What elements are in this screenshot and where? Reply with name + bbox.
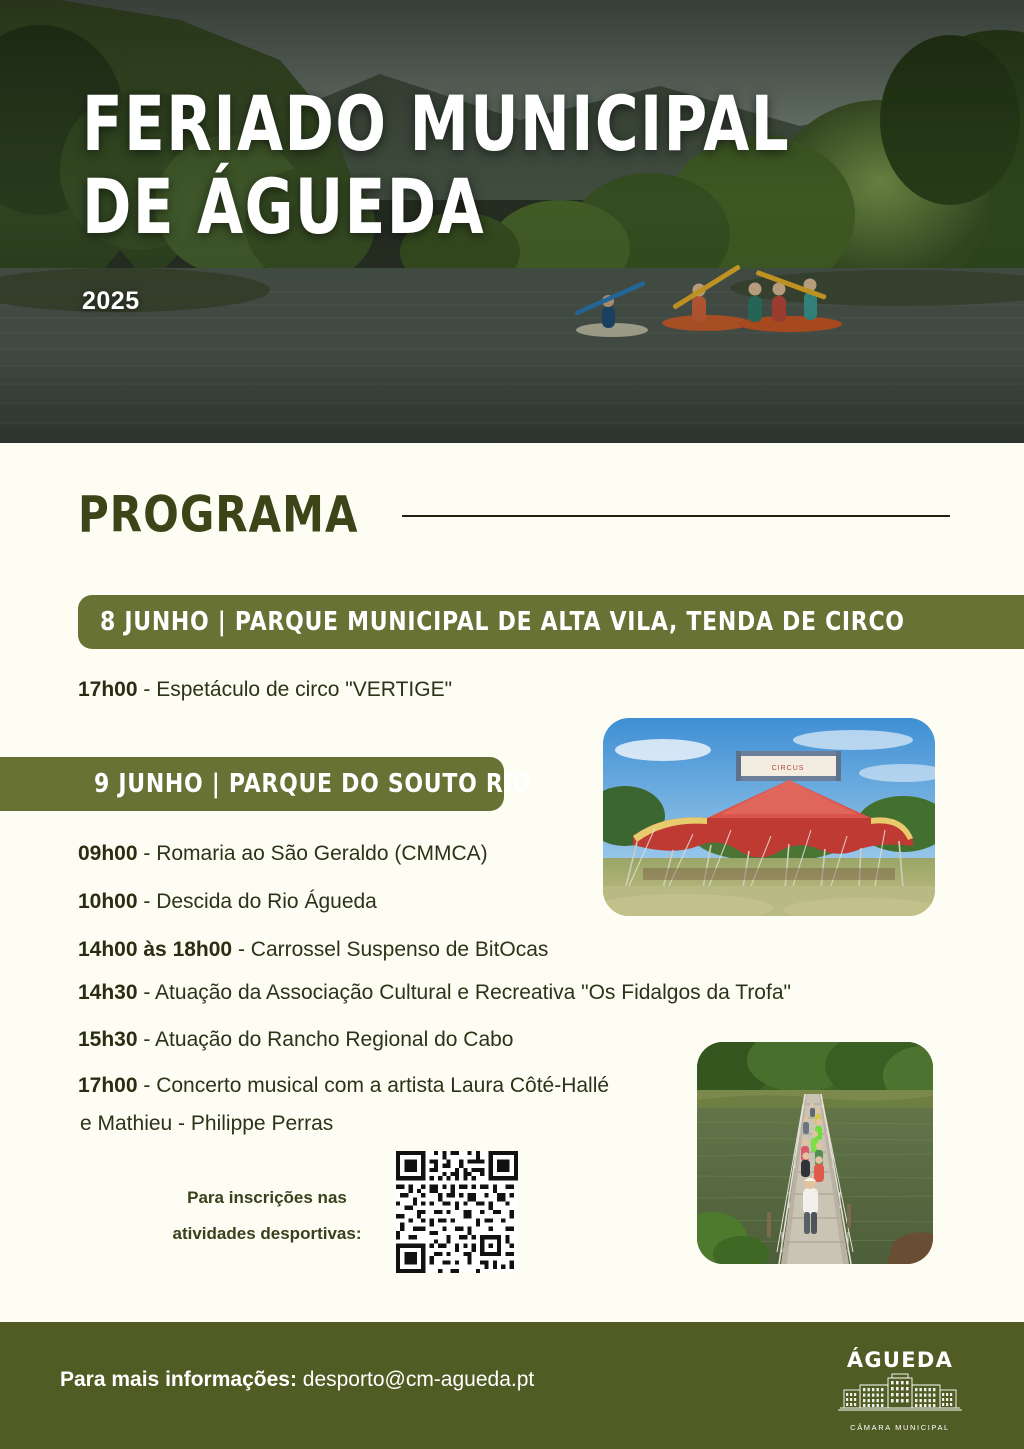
schedule-item-day2-3: 14h30 - Atuação da Associação Cultural e… xyxy=(78,979,791,1007)
schedule-time: 14h30 xyxy=(78,981,138,1004)
schedule-desc: - Atuação da Associação Cultural e Recre… xyxy=(138,981,791,1004)
schedule-desc: - Atuação do Rancho Regional do Cabo xyxy=(138,1028,514,1051)
day-banner-8-junho-label: 8 JUNHO | PARQUE MUNICIPAL DE ALTA VILA,… xyxy=(100,608,905,637)
qr-code[interactable] xyxy=(396,1151,518,1273)
footer-contact-label: Para mais informações: xyxy=(60,1368,297,1391)
poster-year: 2025 xyxy=(82,287,820,316)
registration-text: Para inscrições nas atividades desportiv… xyxy=(152,1180,382,1251)
schedule-item-day2-2: 14h00 às 18h00 - Carrossel Suspenso de B… xyxy=(78,936,548,964)
schedule-item-day2-1: 10h00 - Descida do Rio Águeda xyxy=(78,888,377,916)
hero-header: FERIADO MUNICIPAL DE ÁGUEDA 2025 xyxy=(0,0,1024,443)
schedule-desc: - Espetáculo de circo "VERTIGE" xyxy=(138,678,452,701)
schedule-desc: - Romaria ao São Geraldo (CMMCA) xyxy=(138,842,488,865)
day-banner-8-junho: 8 JUNHO | PARQUE MUNICIPAL DE ALTA VILA,… xyxy=(78,595,1024,649)
schedule-item-day2-4: 15h30 - Atuação do Rancho Regional do Ca… xyxy=(78,1026,513,1054)
poster-title: FERIADO MUNICIPAL DE ÁGUEDA xyxy=(82,88,790,243)
footer-bar: Para mais informações: desporto@cm-agued… xyxy=(0,1322,1024,1449)
schedule-item-day2-5-continuation: e Mathieu - Philippe Perras xyxy=(80,1110,333,1138)
schedule-time: 14h00 às 18h00 xyxy=(78,938,232,961)
registration-line2: atividades desportivas: xyxy=(152,1216,382,1252)
programa-heading: PROGRAMA xyxy=(78,485,358,543)
schedule-desc: e Mathieu - Philippe Perras xyxy=(80,1112,333,1135)
poster-title-line2: DE ÁGUEDA xyxy=(82,170,790,243)
hero-text-block: FERIADO MUNICIPAL DE ÁGUEDA 2025 xyxy=(82,88,820,316)
agueda-logo-wordmark: ÁGUEDA xyxy=(834,1349,966,1371)
poster-title-line1: FERIADO MUNICIPAL xyxy=(82,79,790,168)
schedule-time: 10h00 xyxy=(78,890,138,913)
day-banner-9-junho-label: 9 JUNHO | PARQUE DO SOUTO RIO xyxy=(94,770,532,799)
schedule-desc: - Descida do Rio Águeda xyxy=(138,890,377,913)
footbridge-photo xyxy=(697,1042,933,1264)
poster: FERIADO MUNICIPAL DE ÁGUEDA 2025 PROGRAM… xyxy=(0,0,1024,1449)
circus-tent-photo: CIRCUS xyxy=(603,718,935,916)
footer-contact: Para mais informações: desporto@cm-agued… xyxy=(60,1368,534,1392)
schedule-time: 15h30 xyxy=(78,1028,138,1051)
registration-line1: Para inscrições nas xyxy=(152,1180,382,1216)
programa-heading-row: PROGRAMA xyxy=(78,486,950,542)
schedule-item-day2-5: 17h00 - Concerto musical com a artista L… xyxy=(78,1072,609,1100)
schedule-desc: - Concerto musical com a artista Laura C… xyxy=(138,1074,610,1097)
schedule-time: 17h00 xyxy=(78,678,138,701)
schedule-time: 09h00 xyxy=(78,842,138,865)
schedule-desc: - Carrossel Suspenso de BitOcas xyxy=(232,938,548,961)
schedule-item-day2-0: 09h00 - Romaria ao São Geraldo (CMMCA) xyxy=(78,840,488,868)
day-banner-9-junho: 9 JUNHO | PARQUE DO SOUTO RIO xyxy=(0,757,504,811)
schedule-item-day1-0: 17h00 - Espetáculo de circo "VERTIGE" xyxy=(78,676,452,704)
agueda-logo-subtitle: CÂMARA MUNICIPAL xyxy=(834,1423,966,1432)
city-hall-building-icon xyxy=(834,1373,966,1420)
schedule-time: 17h00 xyxy=(78,1074,138,1097)
footer-contact-email[interactable]: desporto@cm-agueda.pt xyxy=(297,1368,534,1391)
programa-divider xyxy=(402,515,950,517)
agueda-logo: ÁGUEDA xyxy=(834,1349,966,1432)
svg-text:CIRCUS: CIRCUS xyxy=(772,765,805,772)
